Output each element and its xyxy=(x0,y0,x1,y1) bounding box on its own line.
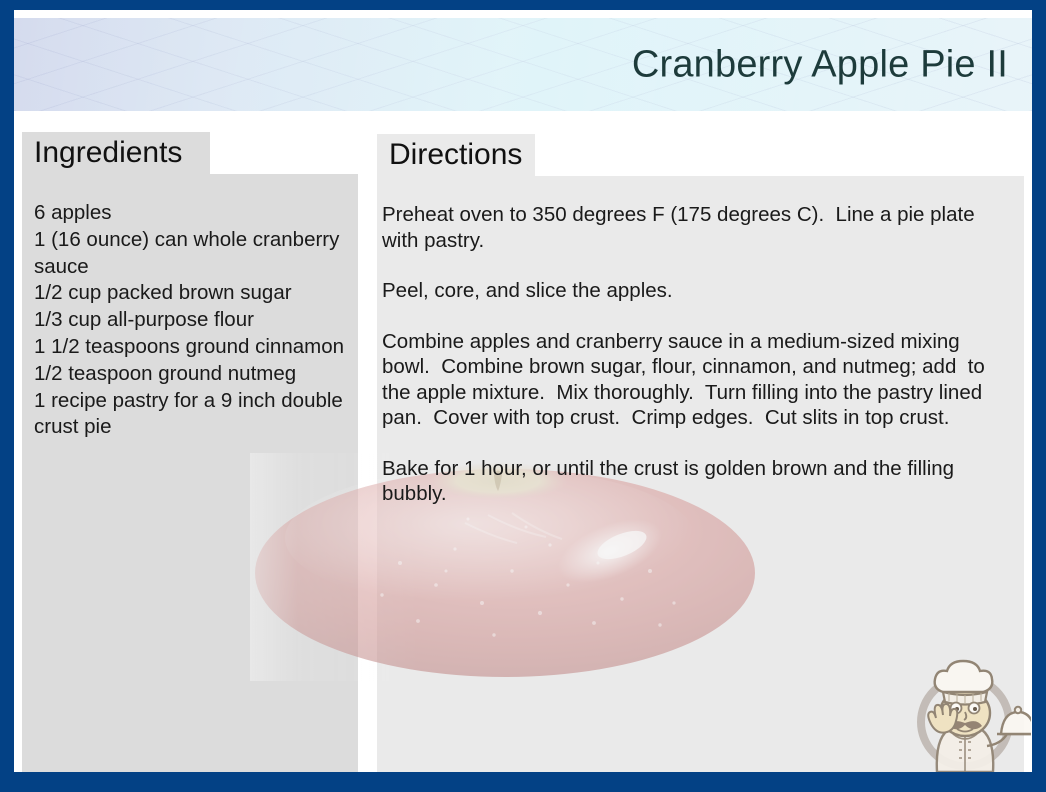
recipe-slide: Cranberry Apple Pie II Ingredients 6 app… xyxy=(0,0,1046,792)
page-title: Cranberry Apple Pie II xyxy=(632,43,1008,86)
ingredients-heading-tab: Ingredients xyxy=(22,132,210,174)
direction-step: Combine apples and cranberry sauce in a … xyxy=(382,329,1012,431)
ingredients-panel: 6 apples 1 (16 ounce) can whole cranberr… xyxy=(22,174,358,772)
ingredients-list: 6 apples 1 (16 ounce) can whole cranberr… xyxy=(34,200,358,441)
direction-step: Bake for 1 hour, or until the crust is g… xyxy=(382,456,1012,507)
directions-steps: Preheat oven to 350 degrees F (175 degre… xyxy=(382,202,1012,507)
directions-heading-tab: Directions xyxy=(377,134,535,176)
direction-step: Peel, core, and slice the apples. xyxy=(382,278,1012,304)
header-banner: Cranberry Apple Pie II xyxy=(14,18,1032,111)
ingredients-heading-label: Ingredients xyxy=(34,136,182,170)
chef-mascot-logo xyxy=(905,650,1031,772)
direction-step: Preheat oven to 350 degrees F (175 degre… xyxy=(382,202,1012,253)
slide-page: Cranberry Apple Pie II Ingredients 6 app… xyxy=(14,10,1032,772)
directions-heading-label: Directions xyxy=(389,138,522,172)
